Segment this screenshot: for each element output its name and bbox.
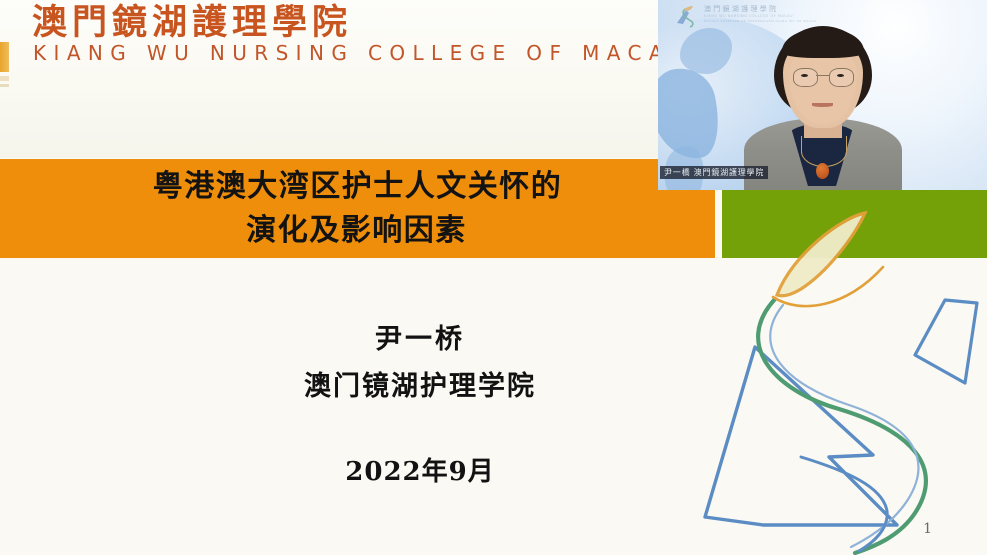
- presenter-figure: [658, 0, 987, 190]
- logo-lower-swoosh: [801, 457, 887, 551]
- slide-number: 1: [923, 521, 932, 537]
- header-accent-tab-tertiary: [0, 84, 9, 87]
- presenter-pendant: [816, 163, 829, 179]
- college-name-english: KIANG WU NURSING COLLEGE OF MACAU: [33, 40, 692, 66]
- presenter-glasses-left: [793, 68, 818, 87]
- presenter-eye-right: [837, 74, 844, 77]
- webcam-video-overlay[interactable]: 澳門鏡湖護理學院 KIANG WU NURSING COLLEGE OF MAC…: [658, 0, 987, 190]
- logo-blue-shape-upper: [915, 300, 977, 383]
- logo-inner-swoosh: [770, 305, 918, 547]
- presenter-name-caption: 尹一橋 澳門鏡湖護理學院: [660, 166, 768, 179]
- logo-gold-tail: [773, 267, 883, 306]
- logo-blue-shape: [705, 347, 897, 525]
- header-accent-tab: [0, 42, 9, 72]
- presenter-mouth: [812, 103, 833, 107]
- presentation-slide: 澳門鏡湖護理學院 KIANG WU NURSING COLLEGE OF MAC…: [0, 0, 987, 555]
- author-organization: 澳门镜湖护理学院: [0, 362, 840, 412]
- college-name-chinese: 澳門鏡湖護理學院: [32, 2, 352, 44]
- author-block: 尹一桥 澳门镜湖护理学院 2022年9月: [0, 318, 840, 490]
- presenter-glasses-right: [829, 68, 854, 87]
- logo-green-swoosh: [758, 299, 926, 553]
- presenter-glasses-bridge: [816, 75, 829, 76]
- header-accent-tab-secondary: [0, 76, 9, 81]
- presenter-hair-fringe: [782, 28, 864, 58]
- green-accent-block: [722, 190, 987, 258]
- presentation-date: 2022年9月: [0, 454, 840, 490]
- author-name: 尹一桥: [0, 318, 840, 362]
- title-banner: [0, 159, 715, 258]
- presenter-eye-left: [801, 74, 808, 77]
